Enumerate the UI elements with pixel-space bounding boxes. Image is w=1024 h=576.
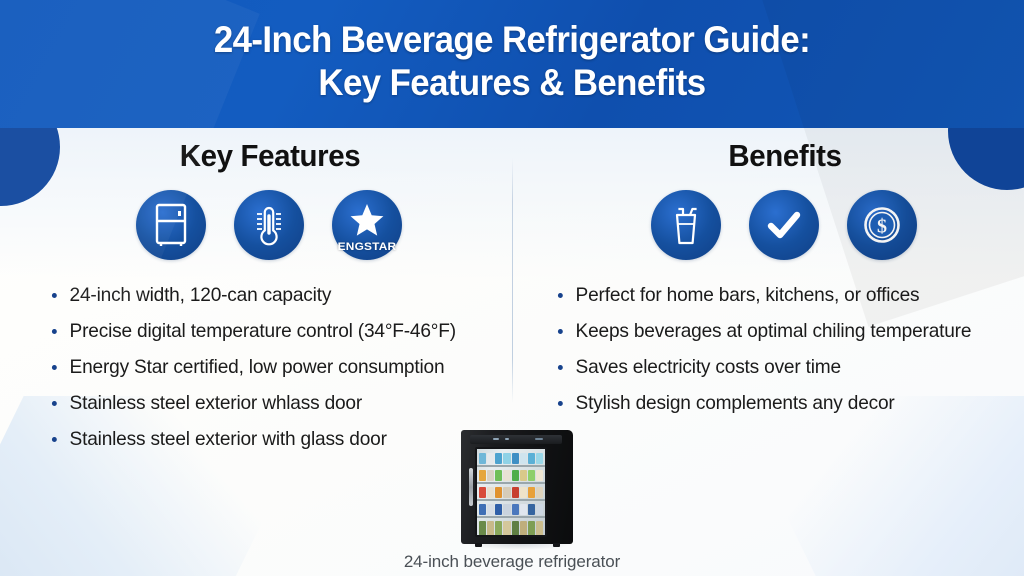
fridge-shelf (477, 465, 545, 467)
fridge-bottle-row (479, 487, 543, 498)
fridge-cabinet (461, 430, 573, 544)
fridge-bottle-row (479, 521, 543, 536)
fridge-shelf (477, 499, 545, 501)
drink-glass-icon (651, 190, 721, 260)
energy-star-icon: ENGSTAR (332, 190, 402, 260)
fridge-bottle-row (479, 453, 543, 464)
list-item: Stainless steel exterior with glass door (48, 428, 507, 450)
slide-root: 24-Inch Beverage Refrigerator Guide: Key… (0, 0, 1024, 576)
fridge-bottle-row (479, 470, 543, 481)
energy-star-label: ENGSTAR (329, 241, 405, 253)
list-item: Saves electricity costs over time (554, 356, 1015, 378)
fridge-led-a (493, 438, 499, 440)
fridge-door-handle (469, 468, 473, 506)
fridge-bottle-row (479, 504, 543, 515)
fridge-foot-left (475, 543, 482, 547)
fridge-foot-right (553, 543, 560, 547)
checkmark-icon (749, 190, 819, 260)
list-item: Keeps beverages at optimal chiling tempe… (554, 320, 1015, 342)
fridge-control-panel (470, 435, 562, 444)
page-title: 24-Inch Beverage Refrigerator Guide: Key… (31, 18, 994, 104)
fridge-led-b (505, 438, 509, 440)
benefits-list: Perfect for home bars, kitchens, or offi… (554, 284, 1024, 414)
fridge-glass-door (475, 447, 547, 537)
fridge-shelf (477, 482, 545, 484)
product-caption: 24-inch beverage refrigerator (0, 552, 1024, 572)
list-item: Stylish design complements any decor (554, 392, 1015, 414)
list-item: Stainless steel exterior whlass door (48, 392, 507, 414)
fridge-led-c (535, 438, 543, 440)
list-item: Precise digital temperature control (34°… (48, 320, 507, 342)
thermometer-icon (234, 190, 304, 260)
list-item: Energy Star certified, low power consump… (48, 356, 507, 378)
fridge-shelf (477, 516, 545, 518)
product-image (455, 428, 580, 546)
